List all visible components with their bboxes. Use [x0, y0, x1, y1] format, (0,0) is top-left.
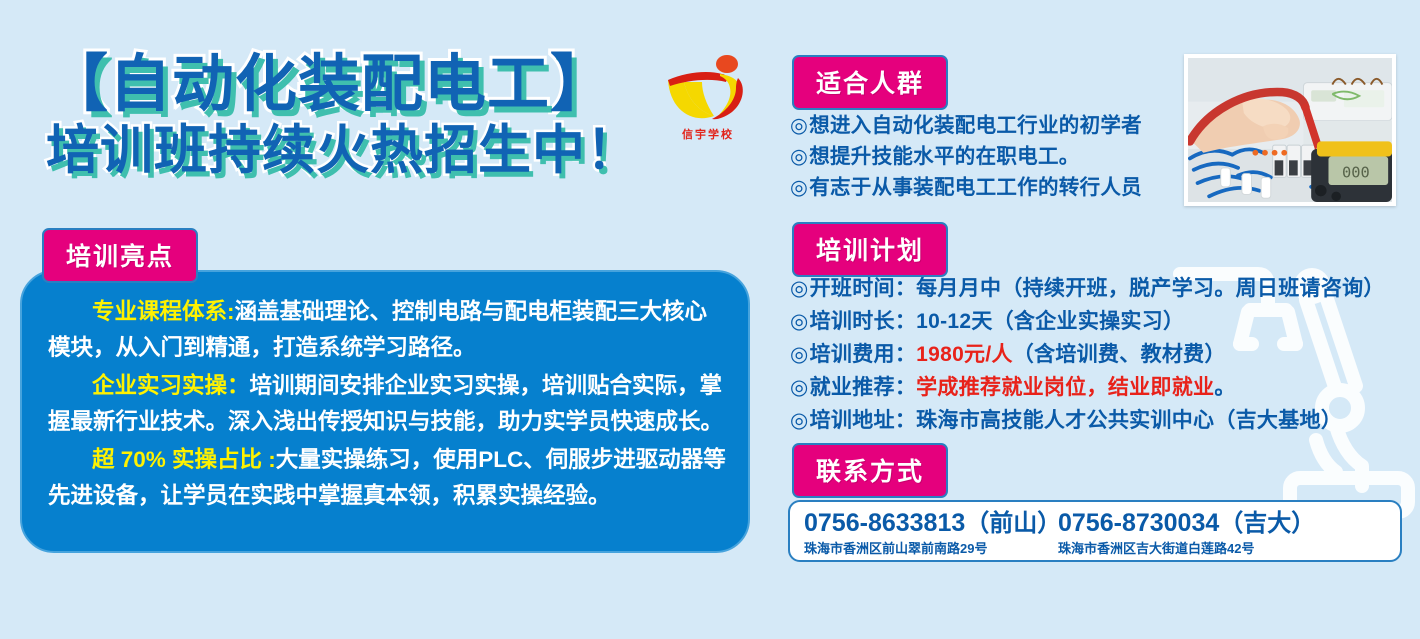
plan-value-job-placement: 学成推荐就业岗位，结业即就业 — [916, 376, 1214, 399]
highlight-item-2: 企业实习实操：培训期间安排企业实习实操，培训贴合实际，掌握最新行业技术。深入浅出… — [48, 368, 726, 440]
badge-contact: 联系方式 — [792, 443, 948, 498]
stylized-figure-logo-icon — [660, 52, 756, 128]
training-plan-list: ◎开班时间：每月月中（持续开班，脱产学习。周日班请咨询） ◎培训时长：10-12… — [790, 272, 1410, 437]
plan-value-address: 珠海市高技能人才公共实训中心（吉大基地） — [916, 409, 1342, 432]
bullet-icon: ◎ — [790, 277, 809, 300]
bullet-icon: ◎ — [790, 310, 809, 333]
plan-label-fee: 培训费用： — [810, 343, 917, 366]
bullet-icon: ◎ — [790, 145, 808, 168]
highlight-keyword-2: 企业实习实操： — [92, 373, 250, 398]
right-column: 适合人群 ◎想进入自动化装配电工行业的初学者 ◎想提升技能水平的在职电工。 ◎有… — [770, 0, 1420, 639]
plan-label-job-placement: 就业推荐： — [810, 376, 917, 399]
electrician-photo: 000 — [1184, 54, 1396, 206]
audience-text-2: 想提升技能水平的在职电工。 — [809, 145, 1079, 168]
plan-row-duration: ◎培训时长：10-12天（含企业实操实习） — [790, 305, 1410, 338]
poster-title: 【自动化装配电工】 培训班持续火热招生中！ — [46, 52, 746, 212]
plan-row-fee: ◎培训费用：1980元/人（含培训费、教材费） — [790, 338, 1410, 371]
plan-value-job-placement-suffix: 。 — [1214, 376, 1235, 399]
plan-label-address: 培训地址： — [810, 409, 917, 432]
badge-training-highlights: 培训亮点 — [42, 228, 198, 283]
contact-entry-qianshan[interactable]: 0756-8633813（前山） 珠海市香洲区前山翠前南路29号 — [804, 508, 1061, 557]
contact-entry-jida[interactable]: 0756-8730034（吉大） 珠海市香洲区吉大街道白莲路42号 — [1058, 508, 1315, 557]
audience-text-3: 有志于从事装配电工工作的转行人员 — [809, 176, 1142, 199]
plan-label-start-date: 开班时间： — [810, 277, 917, 300]
audience-item-1: ◎想进入自动化装配电工行业的初学者 — [790, 110, 1220, 141]
bullet-icon: ◎ — [790, 409, 809, 432]
contact-phone-qianshan[interactable]: 0756-8633813 — [804, 509, 965, 537]
plan-label-duration: 培训时长： — [810, 310, 917, 333]
plan-row-address: ◎培训地址：珠海市高技能人才公共实训中心（吉大基地） — [790, 404, 1410, 437]
contact-address-jida: 珠海市香洲区吉大街道白莲路42号 — [1058, 540, 1315, 557]
training-highlights-panel: 专业课程体系:涵盖基础理论、控制电路与配电柜装配三大核心模块，从入门到精通，打造… — [20, 270, 750, 553]
highlight-item-3: 超 70% 实操占比 :大量实操练习，使用PLC、伺服步进驱动器等先进设备，让学… — [48, 442, 726, 514]
electrician-testing-wiring-image: 000 — [1188, 58, 1392, 202]
highlight-keyword-3: 超 70% 实操占比 : — [92, 447, 276, 472]
contact-location-jida: （吉大） — [1219, 510, 1315, 537]
school-logo: 信宇学校 — [660, 52, 756, 156]
target-audience-list: ◎想进入自动化装配电工行业的初学者 ◎想提升技能水平的在职电工。 ◎有志于从事装… — [790, 110, 1220, 203]
contact-address-qianshan: 珠海市香洲区前山翠前南路29号 — [804, 540, 1061, 557]
plan-value-start-date: 每月月中（持续开班，脱产学习。周日班请咨询） — [916, 277, 1385, 300]
poster-root: 【自动化装配电工】 培训班持续火热招生中！ 信宇学校 培训亮点 专业课程体系:涵… — [0, 0, 1420, 639]
logo-school-name: 信宇学校 — [660, 126, 756, 142]
contact-phone-jida[interactable]: 0756-8730034 — [1058, 509, 1219, 537]
left-column: 【自动化装配电工】 培训班持续火热招生中！ 信宇学校 培训亮点 专业课程体系:涵… — [0, 0, 770, 639]
badge-target-audience: 适合人群 — [792, 55, 948, 110]
bullet-icon: ◎ — [790, 114, 808, 137]
contact-box: 0756-8633813（前山） 珠海市香洲区前山翠前南路29号 0756-87… — [788, 500, 1402, 562]
plan-row-job-placement: ◎就业推荐：学成推荐就业岗位，结业即就业。 — [790, 371, 1410, 404]
title-line-1: 【自动化装配电工】 — [46, 52, 746, 117]
plan-value-duration: 10-12天（含企业实操实习） — [916, 310, 1184, 333]
bullet-icon: ◎ — [790, 376, 809, 399]
contact-phone-jida-wrap[interactable]: 0756-8730034（吉大） — [1058, 508, 1315, 539]
contact-row: 0756-8633813（前山） 珠海市香洲区前山翠前南路29号 0756-87… — [790, 502, 1400, 560]
plan-value-fee-note: （含培训费、教材费） — [1013, 343, 1226, 366]
plan-value-fee-amount: 1980元/人 — [916, 343, 1013, 366]
audience-item-3: ◎有志于从事装配电工工作的转行人员 — [790, 172, 1220, 203]
title-line-2: 培训班持续火热招生中！ — [46, 123, 746, 179]
audience-item-2: ◎想提升技能水平的在职电工。 — [790, 141, 1220, 172]
bullet-icon: ◎ — [790, 176, 808, 199]
svg-text:000: 000 — [1342, 163, 1370, 181]
bullet-icon: ◎ — [790, 343, 809, 366]
badge-training-plan: 培训计划 — [792, 222, 948, 277]
highlight-keyword-1: 专业课程体系: — [92, 299, 235, 324]
contact-phone-qianshan-wrap[interactable]: 0756-8633813（前山） — [804, 508, 1061, 539]
audience-text-1: 想进入自动化装配电工行业的初学者 — [809, 114, 1142, 137]
highlight-item-1: 专业课程体系:涵盖基础理论、控制电路与配电柜装配三大核心模块，从入门到精通，打造… — [48, 294, 726, 366]
contact-location-qianshan: （前山） — [965, 510, 1061, 537]
